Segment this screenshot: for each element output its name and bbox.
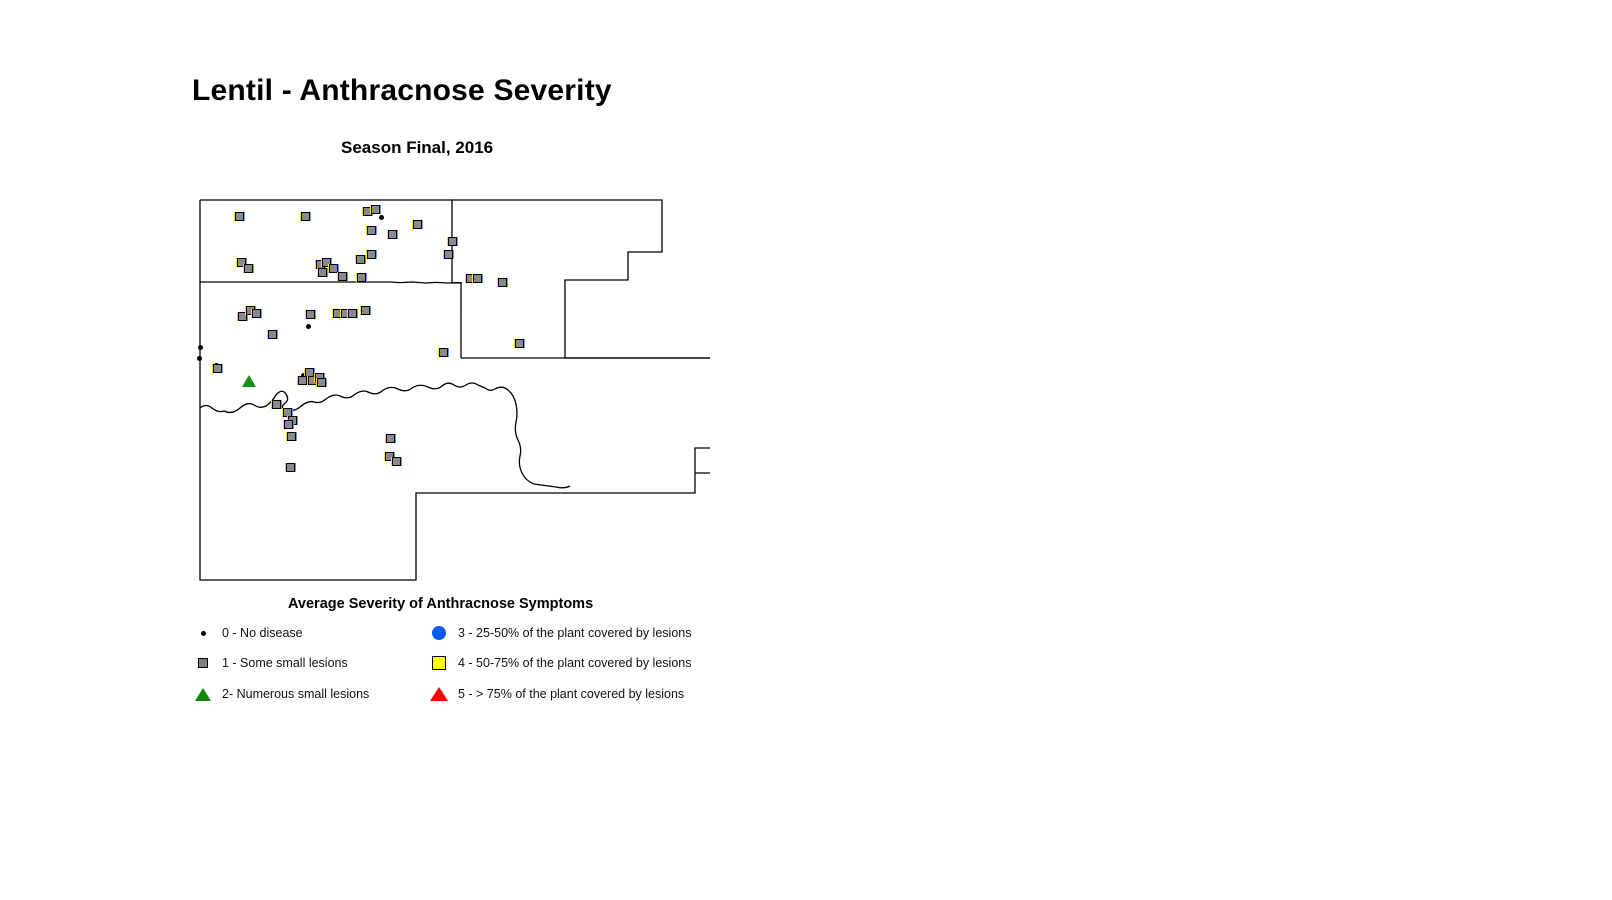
map-point-severity-1	[272, 400, 281, 409]
yellow-square-icon	[426, 656, 452, 670]
map-canvas[interactable]	[190, 190, 710, 590]
map-point-severity-1	[361, 306, 370, 315]
legend-item-label: 4 - 50-75% of the plant covered by lesio…	[458, 656, 691, 670]
legend-item-label: 5 - > 75% of the plant covered by lesion…	[458, 687, 684, 701]
legend-item-5[interactable]: 5 - > 75% of the plant covered by lesion…	[426, 683, 684, 705]
legend-item-label: 1 - Some small lesions	[222, 656, 348, 670]
map-point-severity-0	[197, 356, 202, 361]
map-point-severity-1	[244, 264, 253, 273]
map-point-severity-2	[242, 375, 256, 387]
map-point-severity-1	[439, 348, 448, 357]
dot-icon	[190, 631, 216, 636]
map-point-severity-1	[356, 255, 365, 264]
page-subtitle: Season Final, 2016	[341, 138, 493, 158]
page-title: Lentil - Anthracnose Severity	[192, 74, 612, 108]
map-point-severity-1	[448, 237, 457, 246]
legend-item-2[interactable]: 2- Numerous small lesions	[190, 683, 369, 705]
legend-item-3[interactable]: 3 - 25-50% of the plant covered by lesio…	[426, 622, 691, 644]
legend-title: Average Severity of Anthracnose Symptoms	[288, 596, 593, 612]
map-point-severity-1	[338, 272, 347, 281]
map-page: Lentil - Anthracnose Severity Season Fin…	[0, 0, 1612, 900]
legend-item-label: 2- Numerous small lesions	[222, 687, 369, 701]
map-point-severity-1	[386, 434, 395, 443]
legend-item-0[interactable]: 0 - No disease	[190, 622, 303, 644]
map-point-severity-1	[498, 278, 507, 287]
legend: 0 - No disease 1 - Some small lesions 2-…	[190, 622, 730, 712]
red-triangle-icon	[426, 687, 452, 701]
map-point-severity-1	[317, 378, 326, 387]
map-point-severity-1	[268, 330, 277, 339]
map-point-severity-1	[252, 309, 261, 318]
map-point-severity-1	[367, 250, 376, 259]
legend-item-1[interactable]: 1 - Some small lesions	[190, 652, 348, 674]
map-point-severity-1	[392, 457, 401, 466]
map-point-severity-1	[388, 230, 397, 239]
legend-item-4[interactable]: 4 - 50-75% of the plant covered by lesio…	[426, 652, 691, 674]
map-point-severity-1	[286, 463, 295, 472]
blue-circle-icon	[426, 626, 452, 640]
map-point-severity-1	[306, 310, 315, 319]
map-point-severity-1	[318, 268, 327, 277]
legend-item-label: 3 - 25-50% of the plant covered by lesio…	[458, 626, 691, 640]
map-point-severity-1	[515, 339, 524, 348]
map-point-severity-0	[198, 345, 203, 350]
map-point-severity-1	[371, 205, 380, 214]
map-point-severity-1	[473, 274, 482, 283]
map-point-severity-1	[301, 212, 310, 221]
map-point-severity-1	[235, 212, 244, 221]
map-point-severity-0	[379, 215, 384, 220]
map-point-severity-1	[329, 264, 338, 273]
map-point-severity-1	[287, 432, 296, 441]
gray-square-icon	[190, 658, 216, 668]
map-point-severity-1	[348, 309, 357, 318]
map-point-severity-1	[444, 250, 453, 259]
map-point-severity-0	[306, 324, 311, 329]
map-point-severity-1	[367, 226, 376, 235]
map-point-severity-1	[357, 273, 366, 282]
green-triangle-icon	[190, 688, 216, 701]
map-point-severity-1	[213, 364, 222, 373]
map-point-severity-1	[413, 220, 422, 229]
map-point-severity-1	[298, 376, 307, 385]
legend-item-label: 0 - No disease	[222, 626, 303, 640]
map-point-severity-1	[284, 420, 293, 429]
